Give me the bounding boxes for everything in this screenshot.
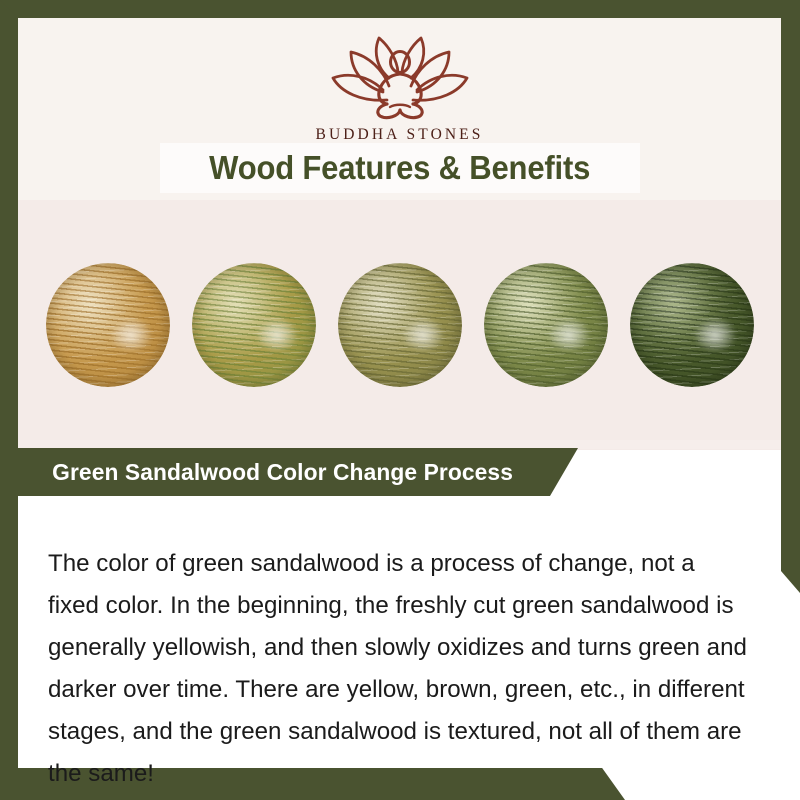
body-paragraph: The color of green sandalwood is a proce… <box>48 543 747 795</box>
frame-top-bar <box>0 0 800 18</box>
page-title: Wood Features & Benefits <box>209 149 590 187</box>
bead-stage-4 <box>484 263 608 387</box>
bead-gallery <box>18 200 781 450</box>
bead-stage-3 <box>338 263 462 387</box>
infographic-page: BUDDHA STONES Wood Features & Benefits <box>0 0 800 800</box>
brand-wordmark: BUDDHA STONES <box>316 126 484 144</box>
frame-left-bar <box>0 18 18 783</box>
bead-stage-2 <box>192 263 316 387</box>
bead-row <box>18 200 781 450</box>
frame-right-bar <box>781 18 800 593</box>
section-seam <box>18 440 781 449</box>
section-banner-label: Green Sandalwood Color Change Process <box>52 459 513 486</box>
section-banner: Green Sandalwood Color Change Process <box>18 448 578 496</box>
bead-stage-1 <box>46 263 170 387</box>
bead-stage-5 <box>630 263 754 387</box>
lotus-meditation-icon <box>325 28 475 125</box>
brand-logo-block: BUDDHA STONES <box>18 18 781 146</box>
body-section: The color of green sandalwood is a proce… <box>18 496 781 768</box>
title-banner: Wood Features & Benefits <box>160 143 640 193</box>
